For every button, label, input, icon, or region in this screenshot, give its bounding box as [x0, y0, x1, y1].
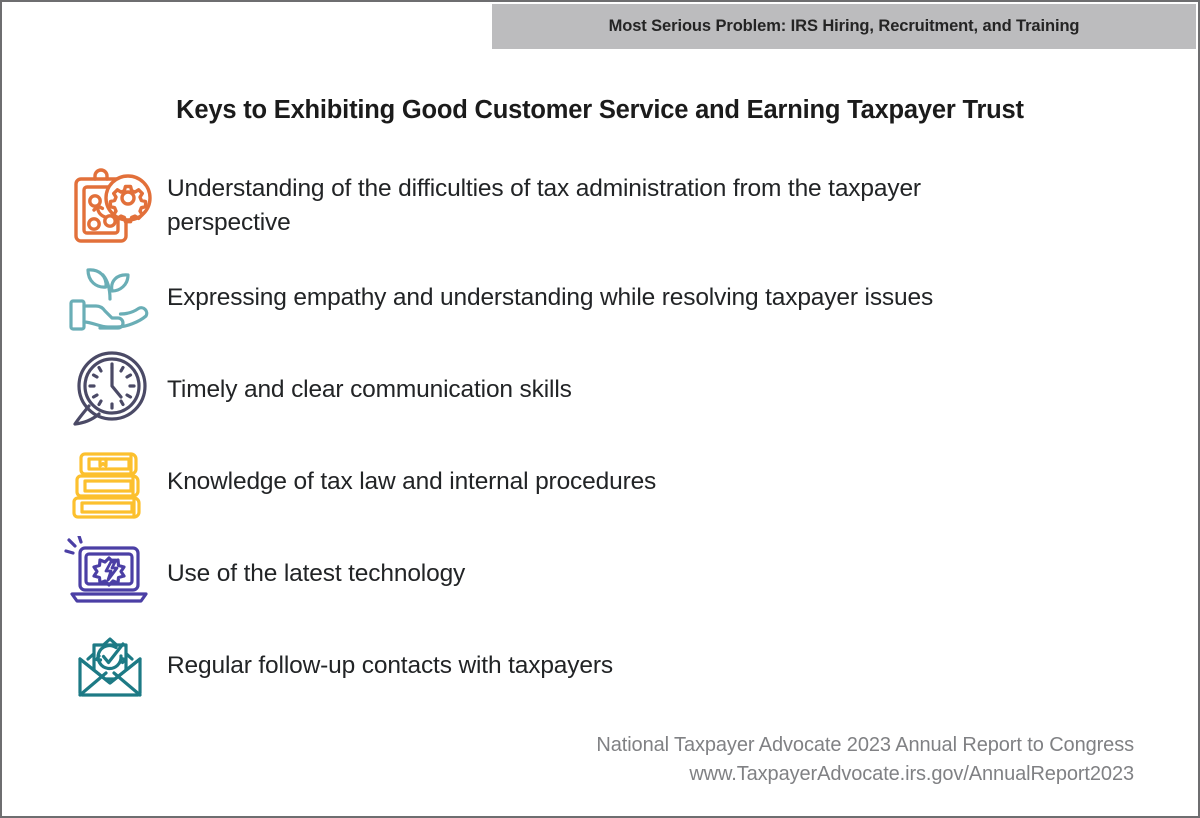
list-item-label: Timely and clear communication skills — [166, 373, 572, 407]
list-item: Timely and clear communication skills — [54, 344, 1154, 436]
stacked-books-icon — [54, 436, 166, 528]
footer-report-line: National Taxpayer Advocate 2023 Annual R… — [596, 731, 1134, 759]
list-item-label: Expressing empathy and understanding whi… — [166, 281, 933, 315]
list-item: Regular follow-up contacts with taxpayer… — [54, 620, 1154, 712]
header-banner: Most Serious Problem: IRS Hiring, Recrui… — [492, 4, 1196, 49]
list-item-label: Use of the latest technology — [166, 557, 465, 591]
list-item: Knowledge of tax law and internal proced… — [54, 436, 1154, 528]
hand-sprout-icon — [54, 252, 166, 344]
envelope-check-icon — [54, 620, 166, 712]
list-item-label: Regular follow-up contacts with taxpayer… — [166, 649, 613, 683]
list-item: Expressing empathy and understanding whi… — [54, 252, 1154, 344]
footer-url-line: www.TaxpayerAdvocate.irs.gov/AnnualRepor… — [596, 760, 1134, 788]
page-title: Keys to Exhibiting Good Customer Service… — [2, 96, 1198, 125]
laptop-lightning-icon — [54, 528, 166, 620]
list-item-label: Understanding of the difficulties of tax… — [166, 172, 1047, 240]
clock-speech-bubble-icon — [54, 344, 166, 436]
list-item: Use of the latest technology — [54, 528, 1154, 620]
slide-page: Most Serious Problem: IRS Hiring, Recrui… — [0, 0, 1200, 818]
keys-list: Understanding of the difficulties of tax… — [54, 160, 1154, 712]
list-item-label: Knowledge of tax law and internal proced… — [166, 465, 656, 499]
header-banner-label: Most Serious Problem: IRS Hiring, Recrui… — [609, 17, 1080, 36]
clipboard-gear-icon — [54, 160, 166, 252]
list-item: Understanding of the difficulties of tax… — [54, 160, 1154, 252]
footer: National Taxpayer Advocate 2023 Annual R… — [596, 731, 1134, 788]
